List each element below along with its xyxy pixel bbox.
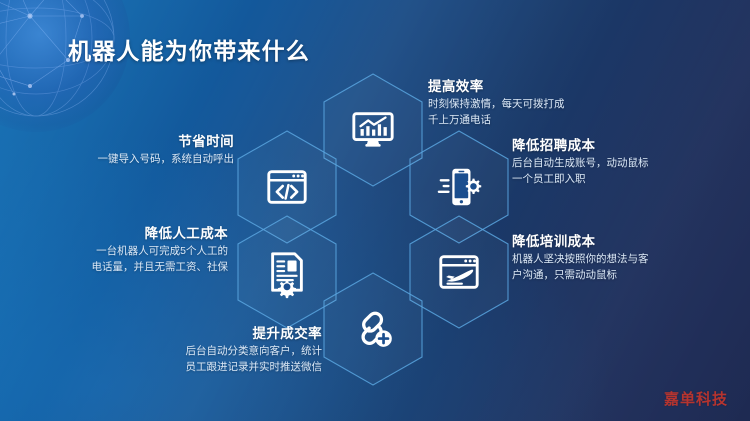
document-gear-icon [237,215,337,329]
desc-reduce-labor-cost: 一台机器人可完成5个人工的 电话量，并且无需工资、社保 [38,244,228,276]
hex-reduce-training-cost[interactable] [409,215,509,329]
hex-improve-efficiency[interactable] [323,73,423,187]
text-save-time: 节省时间 一键导入号码，系统自动呼出 [44,133,234,168]
heading-improve-conversion: 提升成交率 [132,325,322,343]
hex-reduce-labor-cost[interactable] [237,215,337,329]
monitor-chart-icon [323,73,423,187]
heading-reduce-labor-cost: 降低人工成本 [38,225,228,243]
desc-improve-efficiency: 时刻保持激情，每天可拨打成 千上万通电话 [428,97,618,129]
slide-title: 机器人能为你带来什么 [68,32,310,66]
text-reduce-labor-cost: 降低人工成本 一台机器人可完成5个人工的 电话量，并且无需工资、社保 [38,225,228,276]
text-improve-conversion: 提升成交率 后台自动分类意向客户，统计 员工跟进记录并实时推送微信 [132,325,322,376]
network-globe-icon [0,0,130,132]
airplane-window-icon [409,215,509,329]
heading-reduce-training-cost: 降低培训成本 [512,233,702,251]
heading-reduce-recruiting-cost: 降低招聘成本 [512,137,702,155]
heading-save-time: 节省时间 [44,133,234,151]
desc-reduce-training-cost: 机器人坚决按照你的想法与客 户沟通，只需动动鼠标 [512,252,702,284]
text-reduce-recruiting-cost: 降低招聘成本 后台自动生成账号，动动鼠标 一个员工即入职 [512,137,702,188]
desc-improve-conversion: 后台自动分类意向客户，统计 员工跟进记录并实时推送微信 [132,344,322,376]
heading-improve-efficiency: 提高效率 [428,78,618,96]
hex-improve-conversion[interactable] [323,272,423,386]
company-logo: 嘉单科技 [664,388,728,409]
desc-save-time: 一键导入号码，系统自动呼出 [44,152,234,168]
text-reduce-training-cost: 降低培训成本 机器人坚决按照你的想法与客 户沟通，只需动动鼠标 [512,233,702,284]
link-plus-icon [323,272,423,386]
desc-reduce-recruiting-cost: 后台自动生成账号，动动鼠标 一个员工即入职 [512,156,702,188]
text-improve-efficiency: 提高效率 时刻保持激情，每天可拨打成 千上万通电话 [428,78,618,129]
slide-canvas: 机器人能为你带来什么 [0,0,750,421]
